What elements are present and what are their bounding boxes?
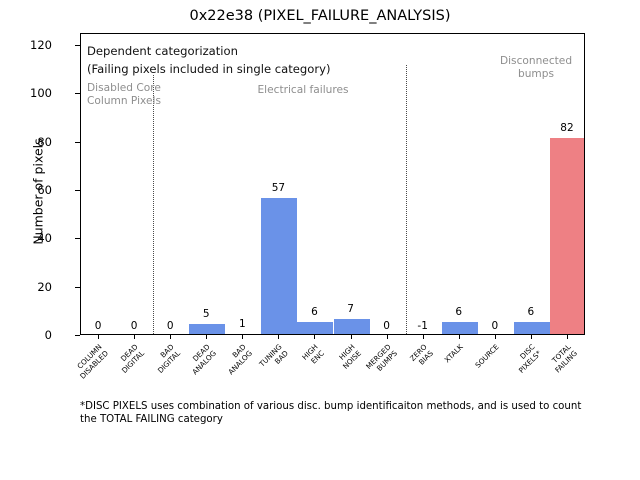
x-tick-mark [495, 335, 496, 339]
x-tick-mark [134, 335, 135, 339]
x-tick-mark [423, 335, 424, 339]
bar [334, 319, 370, 334]
x-tick-mark [567, 335, 568, 339]
x-tick-mark [387, 335, 388, 339]
headnote-text: (Failing pixels included in single categ… [87, 62, 331, 76]
group-annotation: Disabled Core Column Pixels [87, 82, 161, 107]
y-tick-label: 80 [0, 135, 52, 149]
bar-value-label: 7 [347, 303, 354, 315]
group-annotation: Electrical failures [257, 84, 348, 97]
y-tick-label: 60 [0, 183, 52, 197]
plot-area: Dependent categorization(Failing pixels … [80, 33, 585, 335]
bar-value-label: 6 [455, 306, 462, 318]
x-tick-mark [98, 335, 99, 339]
divider-line [153, 75, 154, 334]
divider-line [406, 65, 407, 334]
bar [550, 138, 584, 334]
plot-inner: Dependent categorization(Failing pixels … [81, 34, 584, 334]
bar [297, 322, 333, 335]
figure-canvas: 0x22e38 (PIXEL_FAILURE_ANALYSIS) Number … [0, 0, 640, 480]
y-tick-label: 20 [0, 280, 52, 294]
group-annotation: Disconnected bumps [500, 55, 572, 80]
bar [442, 322, 478, 335]
x-tick-mark [351, 335, 352, 339]
bar-value-label: 6 [311, 306, 318, 318]
y-tick-label: 100 [0, 86, 52, 100]
x-tick-mark [170, 335, 171, 339]
x-tick-mark [459, 335, 460, 339]
page-title: 0x22e38 (PIXEL_FAILURE_ANALYSIS) [0, 8, 640, 24]
bar [514, 322, 550, 335]
bar-value-label: 0 [383, 320, 390, 332]
bar-value-label: 1 [239, 318, 246, 330]
bar-value-label: 0 [95, 320, 102, 332]
bar [261, 198, 297, 334]
bar-value-label: 82 [560, 122, 573, 134]
x-tick-mark [314, 335, 315, 339]
x-tick-mark [531, 335, 532, 339]
y-tick-label: 0 [0, 328, 52, 342]
y-tick-mark [75, 335, 80, 336]
footnote: *DISC PIXELS uses combination of various… [80, 400, 600, 426]
bar-value-label: 57 [272, 182, 285, 194]
x-tick-mark [278, 335, 279, 339]
bar-value-label: -1 [417, 320, 427, 332]
bar-value-label: 0 [131, 320, 138, 332]
bar-value-label: 0 [491, 320, 498, 332]
bar-value-label: 0 [167, 320, 174, 332]
x-tick-mark [242, 335, 243, 339]
headnote-text: Dependent categorization [87, 44, 238, 58]
bar-value-label: 6 [528, 306, 535, 318]
bar [189, 324, 225, 334]
y-tick-label: 40 [0, 231, 52, 245]
x-tick-mark [206, 335, 207, 339]
y-tick-label: 120 [0, 38, 52, 52]
bar-value-label: 5 [203, 308, 210, 320]
